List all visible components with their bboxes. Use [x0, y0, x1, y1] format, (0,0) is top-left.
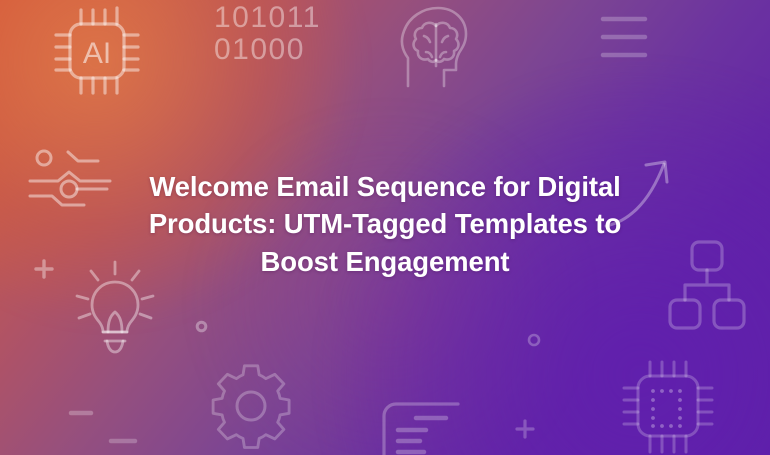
page-title: Welcome Email Sequence for Digital Produ…: [110, 168, 660, 280]
binary-line-1: 101011: [214, 2, 321, 34]
gear-icon: [213, 366, 289, 446]
ai-chip-icon: AI: [52, 2, 142, 102]
document-lines-icon: [378, 398, 462, 455]
hero-title-wrapper: Welcome Email Sequence for Digital Produ…: [0, 168, 770, 280]
dash-mark-left: [68, 409, 94, 417]
ai-chip-label: AI: [83, 37, 111, 70]
ring-mark-right: [526, 332, 542, 348]
dash-mark-bottom-left: [108, 437, 138, 445]
hero-banner: AI 101011 01000: [0, 0, 770, 455]
binary-line-2: 01000: [214, 34, 321, 66]
binary-code-text: 101011 01000: [214, 2, 321, 65]
ring-mark-center: [194, 319, 209, 334]
plus-mark-bottom: [514, 418, 536, 440]
menu-lines-icon: [600, 14, 648, 60]
cpu-chip-icon: [622, 356, 714, 455]
brain-head-icon: [396, 2, 476, 92]
